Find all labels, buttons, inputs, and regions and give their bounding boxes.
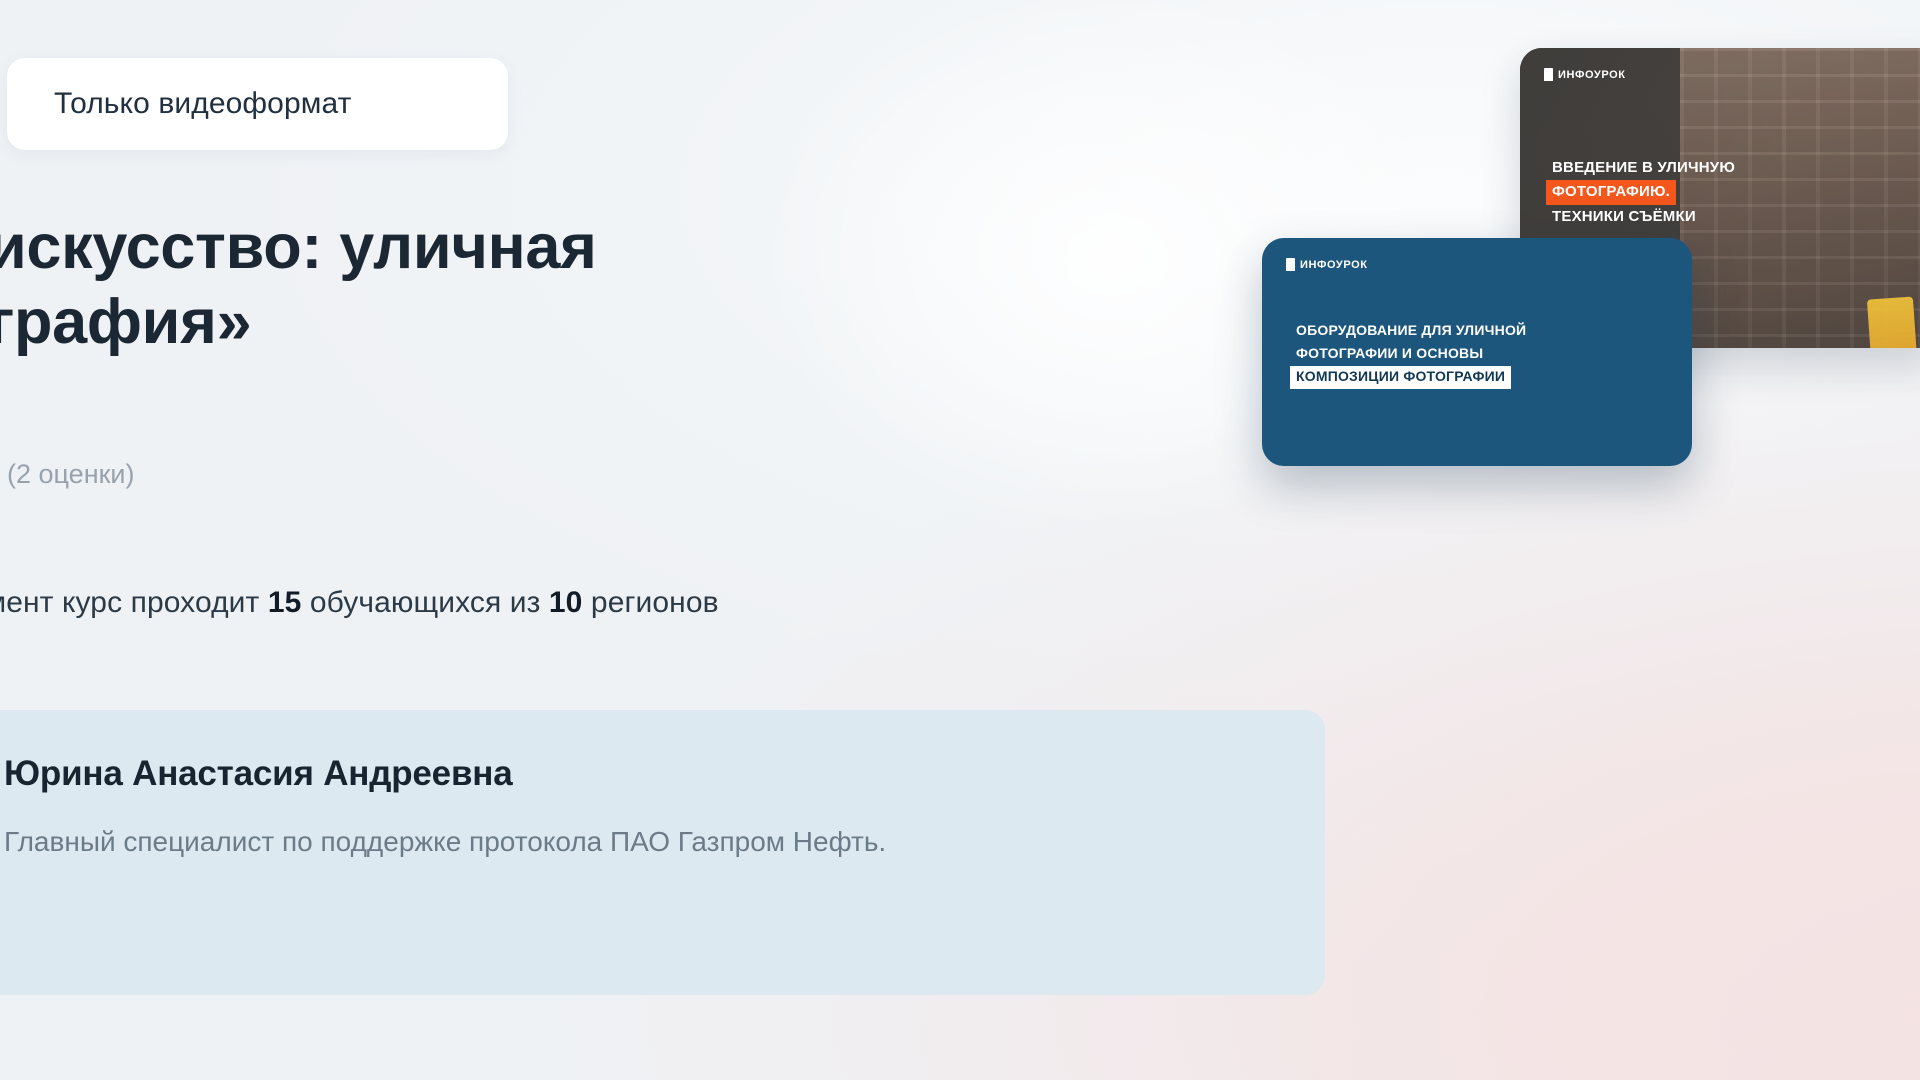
teacher-description: Главный специалист по поддержке протокол…: [4, 822, 1164, 863]
brand-logo: ИНФОУРОК: [1544, 68, 1626, 81]
card-headline-line: ТЕХНИКИ СЪЁМКИ: [1546, 205, 1702, 229]
page-title: искусство: уличная графия»: [0, 210, 1328, 359]
format-badge-label: Только видеоформат: [54, 87, 351, 121]
card-headline: ОБОРУДОВАНИЕ ДЛЯ УЛИЧНОЙ ФОТОГРАФИИ И ОС…: [1290, 320, 1532, 389]
card-headline-line: ФОТОГРАФИИ И ОСНОВЫ: [1290, 343, 1489, 366]
course-card-equipment[interactable]: ИНФОУРОК ОБОРУДОВАНИЕ ДЛЯ УЛИЧНОЙ ФОТОГР…: [1262, 238, 1692, 466]
regions-count: 10: [549, 586, 583, 619]
course-cards-stack: ИНФОУРОК ФОТОГРАФИИ. ВЫДАЮЩИЕСЯ УЛИЧНЫЕ …: [1220, 0, 1920, 1080]
teacher-card[interactable]: Юрина Анастасия Андреевна Главный специа…: [0, 710, 1325, 995]
format-badge[interactable]: Только видеоформат: [7, 58, 508, 150]
card-headline: ВВЕДЕНИЕ В УЛИЧНУЮ ФОТОГРАФИЮ. ТЕХНИКИ С…: [1546, 156, 1741, 229]
students-prefix: момент курс проходит: [0, 586, 268, 619]
students-suffix: регионов: [582, 586, 718, 619]
course-info-column: Только видеоформат искусство: уличная гр…: [0, 0, 1340, 1080]
card-headline-line: ВВЕДЕНИЕ В УЛИЧНУЮ: [1546, 156, 1741, 180]
logo-mark-icon: [1544, 68, 1553, 81]
rating-row: ★ (2 оценки): [0, 459, 135, 490]
students-count: 15: [268, 586, 302, 619]
card-headline-line: КОМПОЗИЦИИ ФОТОГРАФИИ: [1290, 366, 1511, 389]
card-headline-line: ОБОРУДОВАНИЕ ДЛЯ УЛИЧНОЙ: [1290, 320, 1532, 343]
logo-mark-icon: [1286, 258, 1295, 271]
brand-logo-text: ИНФОУРОК: [1558, 69, 1626, 81]
students-summary: момент курс проходит 15 обучающихся из 1…: [0, 586, 719, 620]
brand-logo-text: ИНФОУРОК: [1300, 259, 1368, 271]
teacher-name: Юрина Анастасия Андреевна: [4, 754, 1265, 794]
brand-logo: ИНФОУРОК: [1286, 258, 1368, 271]
rating-count-label: (2 оценки): [7, 459, 135, 490]
card-headline-line: ФОТОГРАФИЮ.: [1546, 180, 1676, 204]
students-middle: обучающихся из: [301, 586, 549, 619]
